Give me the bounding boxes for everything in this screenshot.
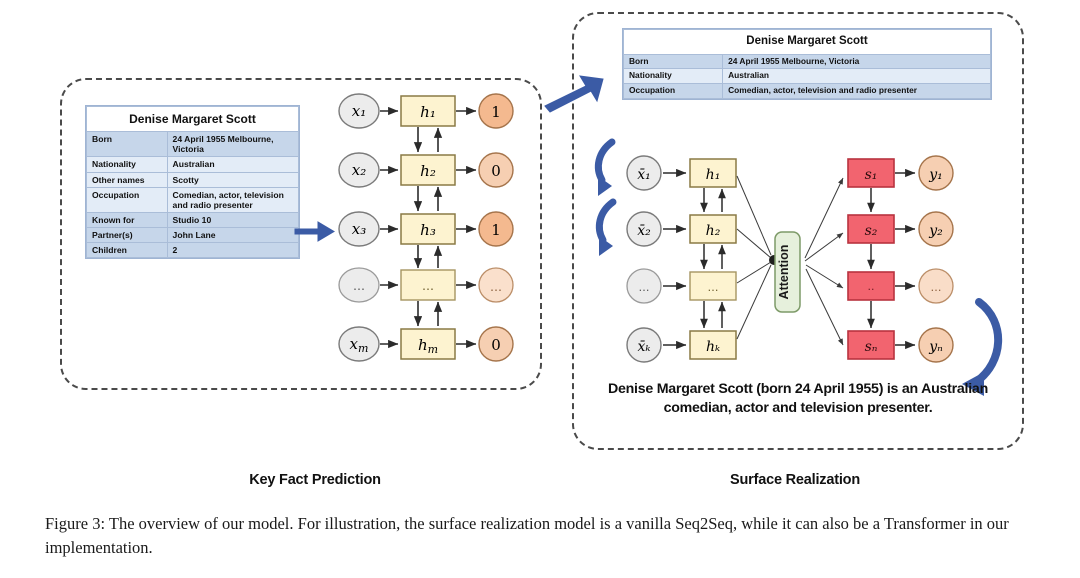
table-row: Nationality Australian	[87, 157, 299, 172]
table-row: Partner(s) John Lane	[87, 228, 299, 243]
infobox-left-value-3: Comedian, actor, television and radio pr…	[167, 187, 298, 212]
generated-sentence: Denise Margaret Scott (born 24 April 195…	[598, 380, 998, 418]
table-row: Born 24 April 1955 Melbourne, Victoria	[624, 54, 991, 69]
table-row: Nationality Australian	[624, 69, 991, 84]
infobox-right-value-0: 24 April 1955 Melbourne, Victoria	[723, 54, 991, 69]
table-row: Occupation Comedian, actor, television a…	[87, 187, 299, 212]
infobox-left-value-0: 24 April 1955 Melbourne, Victoria	[167, 132, 298, 157]
infobox-left-key-0: Born	[87, 132, 168, 157]
table-row: Born 24 April 1955 Melbourne, Victoria	[87, 132, 299, 157]
infobox-left-key-2: Other names	[87, 172, 168, 187]
infobox-right-value-1: Australian	[723, 69, 991, 84]
infobox-right-key-2: Occupation	[624, 84, 723, 99]
infobox-left-key-4: Known for	[87, 213, 168, 228]
infobox-left-value-2: Scotty	[167, 172, 298, 187]
infobox-left-key-3: Occupation	[87, 187, 168, 212]
infobox-left-value-6: 2	[167, 243, 298, 258]
table-row: Other names Scotty	[87, 172, 299, 187]
section-label-surface-realization: Surface Realization	[660, 472, 930, 488]
infobox-left-key-6: Children	[87, 243, 168, 258]
infobox-right-key-0: Born	[624, 54, 723, 69]
infobox-left-value-1: Australian	[167, 157, 298, 172]
infobox-left-title-row: Denise Margaret Scott	[87, 107, 299, 132]
section-label-key-fact-prediction: Key Fact Prediction	[180, 472, 450, 488]
infobox-left: Denise Margaret Scott Born 24 April 1955…	[85, 105, 300, 259]
table-row: Children 2	[87, 243, 299, 258]
infobox-left-value-5: John Lane	[167, 228, 298, 243]
figure-caption: Figure 3: The overview of our model. For…	[45, 512, 1040, 560]
infobox-right-key-1: Nationality	[624, 69, 723, 84]
infobox-right-value-2: Comedian, actor, television and radio pr…	[723, 84, 991, 99]
table-row: Occupation Comedian, actor, television a…	[624, 84, 991, 99]
infobox-right: Denise Margaret Scott Born 24 April 1955…	[622, 28, 992, 100]
infobox-left-value-4: Studio 10	[167, 213, 298, 228]
table-row: Known for Studio 10	[87, 213, 299, 228]
infobox-right-title: Denise Margaret Scott	[624, 30, 991, 55]
infobox-right-title-row: Denise Margaret Scott	[624, 30, 991, 55]
infobox-left-key-5: Partner(s)	[87, 228, 168, 243]
infobox-left-key-1: Nationality	[87, 157, 168, 172]
infobox-left-title: Denise Margaret Scott	[87, 107, 299, 132]
